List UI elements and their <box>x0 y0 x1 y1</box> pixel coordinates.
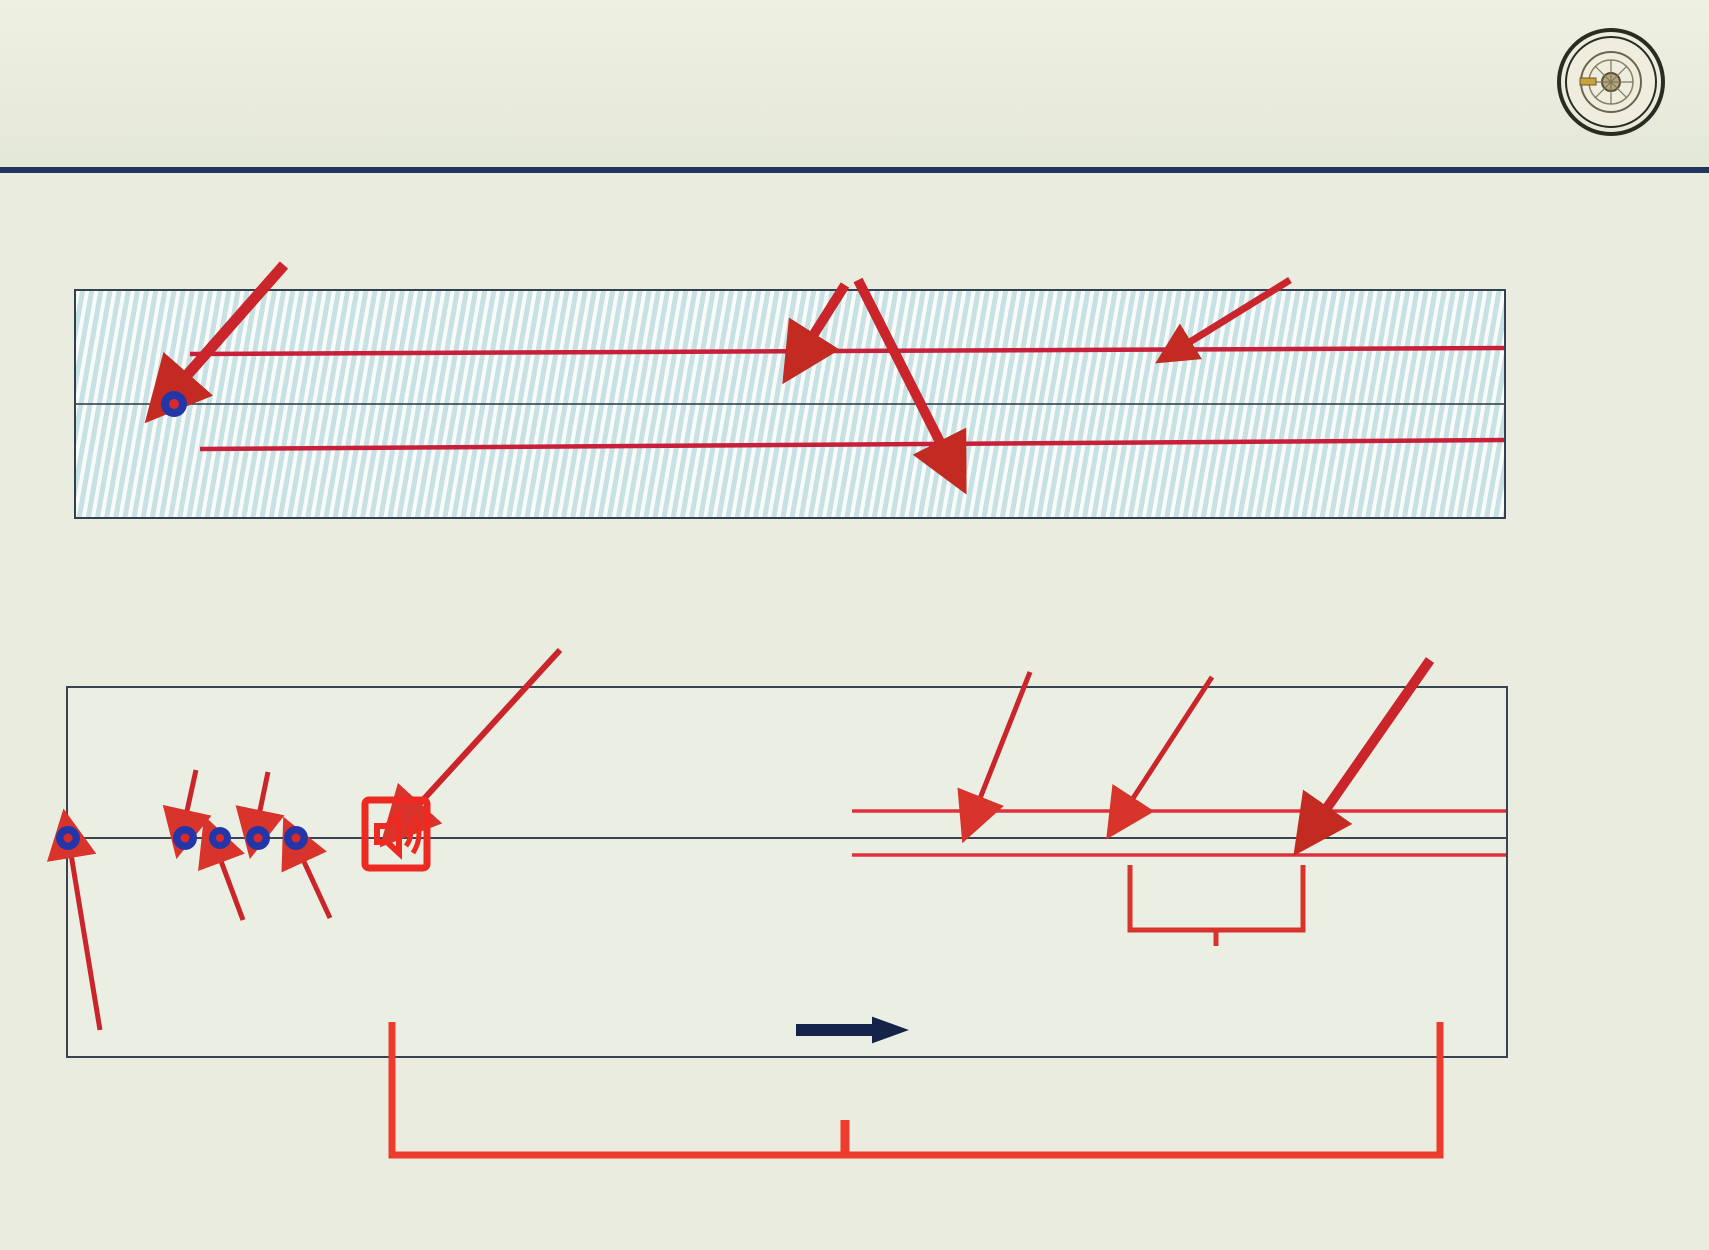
bottom-chart-graphics <box>0 0 1709 1250</box>
footer-swatch-2 <box>1642 1220 1664 1242</box>
footer-institute-branding <box>1602 1220 1695 1242</box>
start-earthquake-arrow <box>70 848 100 1030</box>
fourth-event-arrow <box>300 853 330 918</box>
footer-swatch-3 <box>1673 1220 1695 1242</box>
onsite-warning-arrow-bottom <box>1128 677 1212 806</box>
third-event-arrow <box>258 772 268 820</box>
footer-swatch-1 <box>1611 1220 1633 1242</box>
lead-time-onsite-bracket <box>1130 865 1303 930</box>
lead-time-regional-bracket <box>392 1022 1440 1155</box>
time-direction-arrow <box>797 1018 906 1042</box>
warning-vulnerable-arrow <box>412 650 560 812</box>
second-event-arrow <box>218 853 243 920</box>
first-event-arrow <box>185 770 196 820</box>
threshold-limit-arrow-bottom <box>977 672 1030 806</box>
s-wave-arrival-arrow <box>1322 660 1430 815</box>
